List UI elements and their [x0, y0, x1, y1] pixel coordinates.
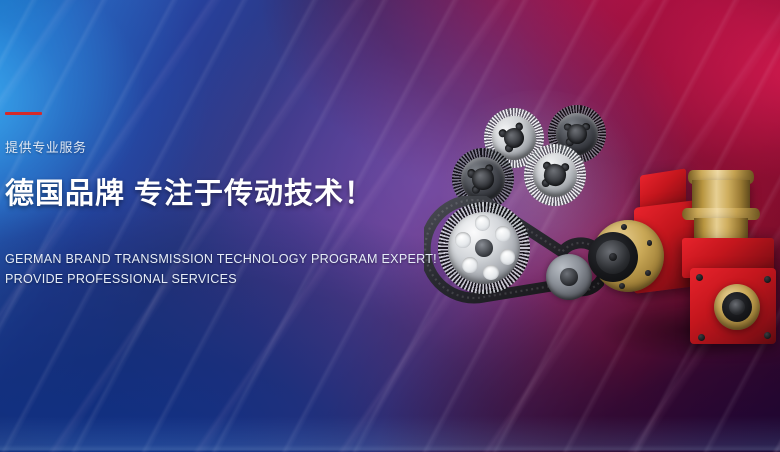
gear-lightening-hole	[495, 226, 511, 242]
eyebrow-text: 提供专业服务	[5, 137, 423, 156]
small-pulley	[546, 254, 592, 300]
flange-bolt	[619, 283, 625, 289]
flange-bolt	[764, 332, 771, 339]
timing-belt-assembly	[424, 196, 604, 332]
gear-lightening-hole	[483, 265, 499, 281]
gearbox-output-bore	[729, 299, 745, 315]
hero-banner: 提供专业服务 德国品牌 专注于传动技术！ GERMAN BRAND TRANSM…	[0, 0, 780, 452]
accent-rule	[5, 112, 42, 115]
large-gear	[438, 202, 530, 294]
flange-bolt	[698, 334, 705, 341]
gear-lightening-hole	[462, 257, 478, 273]
headline-text: 德国品牌 专注于传动技术！	[5, 170, 423, 212]
gear-lightening-hole	[500, 249, 516, 265]
flange-bolt	[621, 224, 627, 230]
flange-bolt	[647, 240, 653, 246]
flange-bolt	[645, 270, 651, 276]
banner-copy-block: 提供专业服务 德国品牌 专注于传动技术！ GERMAN BRAND TRANSM…	[3, 112, 423, 292]
gear-center-bore	[475, 239, 492, 256]
subtitle-line-2: PROVIDE PROFESSIONAL SERVICES	[5, 272, 423, 286]
right-angle-gearbox-right	[676, 162, 780, 348]
gear-lightening-hole	[475, 215, 491, 231]
bore-key-slot	[609, 253, 617, 261]
small-pulley-bore	[560, 268, 577, 285]
flange-bolt	[764, 276, 771, 283]
flange-bolt	[696, 274, 703, 281]
gear-lightening-hole	[455, 232, 471, 248]
subtitle-line-1: GERMAN BRAND TRANSMISSION TECHNOLOGY PRO…	[5, 252, 423, 266]
